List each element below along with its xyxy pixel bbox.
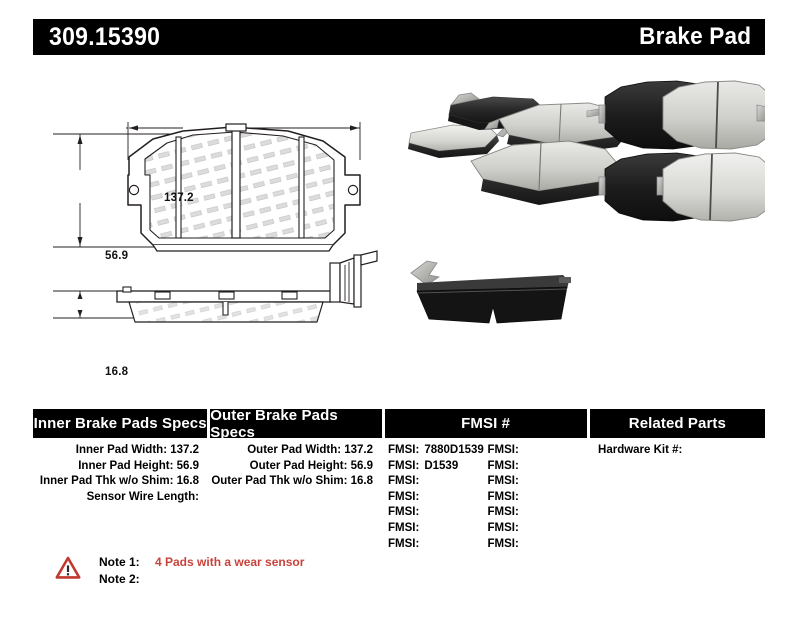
spec-line: Sensor Wire Length:: [33, 490, 199, 506]
fmsi-label: FMSI:: [488, 491, 519, 503]
spec-line: Inner Pad Height: 56.9: [33, 459, 199, 475]
product-type-title: Brake Pad: [639, 25, 751, 49]
spec-line: Inner Pad Width: 137.2: [33, 443, 199, 459]
fmsi-row: FMSI:: [388, 521, 488, 537]
spec-line: Outer Pad Width: 137.2: [210, 443, 373, 459]
fmsi-value: [519, 506, 524, 518]
spec-line: Inner Pad Thk w/o Shim: 16.8: [33, 474, 199, 490]
note-value: 4 Pads with a wear sensor: [151, 554, 304, 571]
fmsi-row: FMSI:: [388, 505, 488, 521]
fmsi-label: FMSI:: [488, 475, 519, 487]
note-label: Note 2:: [99, 571, 151, 588]
notes-text-group: Note 1: 4 Pads with a wear sensor Note 2…: [99, 554, 304, 588]
outer-specs-cell: Outer Pad Width: 137.2 Outer Pad Height:…: [210, 443, 381, 552]
fmsi-row: FMSI:: [488, 537, 588, 553]
fmsi-row: FMSI:7880D1539: [388, 443, 488, 459]
fmsi-row: FMSI:: [488, 521, 588, 537]
dimension-label-thickness: 16.8: [105, 366, 128, 378]
table-header-outer-specs: Outer Brake Pads Specs: [210, 409, 381, 438]
table-header-fmsi: FMSI #: [385, 409, 587, 438]
fmsi-value: [519, 538, 524, 550]
fmsi-value: [419, 491, 424, 503]
fmsi-label: FMSI:: [488, 460, 519, 472]
fmsi-row: FMSI:: [488, 490, 588, 506]
warning-triangle-icon: [55, 555, 81, 581]
technical-drawing-panel: 137.2 56.9 16.8: [33, 75, 393, 375]
fmsi-column-right: FMSI: FMSI: FMSI: FMSI: FMSI: FMSI: FMSI…: [488, 443, 588, 552]
photo-pad-flat-tr: [663, 81, 765, 149]
fmsi-value: [419, 522, 424, 534]
fmsi-label: FMSI:: [488, 444, 519, 456]
related-parts-cell: Hardware Kit #:: [590, 443, 765, 552]
part-number: 309.15390: [49, 25, 160, 50]
fmsi-value: [519, 444, 524, 456]
brake-pad-photos-svg: [393, 75, 765, 375]
table-header-row: Inner Brake Pads Specs Outer Brake Pads …: [33, 409, 765, 438]
fmsi-value: [519, 491, 524, 503]
fmsi-row: FMSI:: [488, 474, 588, 490]
fmsi-value: [419, 506, 424, 518]
fmsi-label: FMSI:: [388, 522, 419, 534]
fmsi-row: FMSI:: [388, 537, 488, 553]
fmsi-row: FMSI:: [488, 459, 588, 475]
fmsi-label: FMSI:: [388, 460, 419, 472]
spec-line: Outer Pad Height: 56.9: [210, 459, 373, 475]
related-part-line: Hardware Kit #:: [598, 443, 765, 459]
table-header-related-parts: Related Parts: [590, 409, 765, 438]
note-row: Note 1: 4 Pads with a wear sensor: [99, 554, 304, 571]
fmsi-label: FMSI:: [388, 538, 419, 550]
fmsi-value: [419, 475, 424, 487]
fmsi-value: [419, 538, 424, 550]
fmsi-value: [519, 460, 524, 472]
fmsi-row: FMSI:: [488, 505, 588, 521]
fmsi-label: FMSI:: [388, 506, 419, 518]
fmsi-value: [519, 522, 524, 534]
fmsi-cell: FMSI:7880D1539 FMSI:D1539 FMSI: FMSI: FM…: [384, 443, 587, 552]
fmsi-value: 7880D1539: [419, 444, 483, 456]
notes-section: Note 1: 4 Pads with a wear sensor Note 2…: [55, 554, 304, 588]
fmsi-label: FMSI:: [388, 491, 419, 503]
fmsi-value: [519, 475, 524, 487]
title-bar: 309.15390 Brake Pad: [33, 19, 765, 55]
note-label: Note 1:: [99, 554, 151, 571]
fmsi-row: FMSI:D1539: [388, 459, 488, 475]
dimension-label-height: 56.9: [105, 250, 128, 262]
fmsi-column-left: FMSI:7880D1539 FMSI:D1539 FMSI: FMSI: FM…: [388, 443, 488, 552]
table-header-inner-specs: Inner Brake Pads Specs: [33, 409, 207, 438]
spec-line: Outer Pad Thk w/o Shim: 16.8: [210, 474, 373, 490]
fmsi-label: FMSI:: [488, 522, 519, 534]
product-photo-panel: [393, 75, 765, 375]
photo-pad-side-profile: [411, 261, 571, 323]
fmsi-row: FMSI:: [388, 474, 488, 490]
dimension-label-width: 137.2: [164, 192, 194, 204]
fmsi-row: FMSI:: [388, 490, 488, 506]
fmsi-row: FMSI:: [488, 443, 588, 459]
note-value: [151, 571, 155, 588]
note-row: Note 2:: [99, 571, 304, 588]
fmsi-value: D1539: [419, 460, 458, 472]
fmsi-label: FMSI:: [488, 538, 519, 550]
inner-specs-cell: Inner Pad Width: 137.2 Inner Pad Height:…: [33, 443, 207, 552]
fmsi-label: FMSI:: [388, 444, 419, 456]
brake-pad-drawing-svg: [33, 75, 393, 375]
fmsi-label: FMSI:: [388, 475, 419, 487]
specifications-table: Inner Brake Pads Specs Outer Brake Pads …: [33, 409, 765, 552]
fmsi-label: FMSI:: [488, 506, 519, 518]
table-body-row: Inner Pad Width: 137.2 Inner Pad Height:…: [33, 438, 765, 552]
